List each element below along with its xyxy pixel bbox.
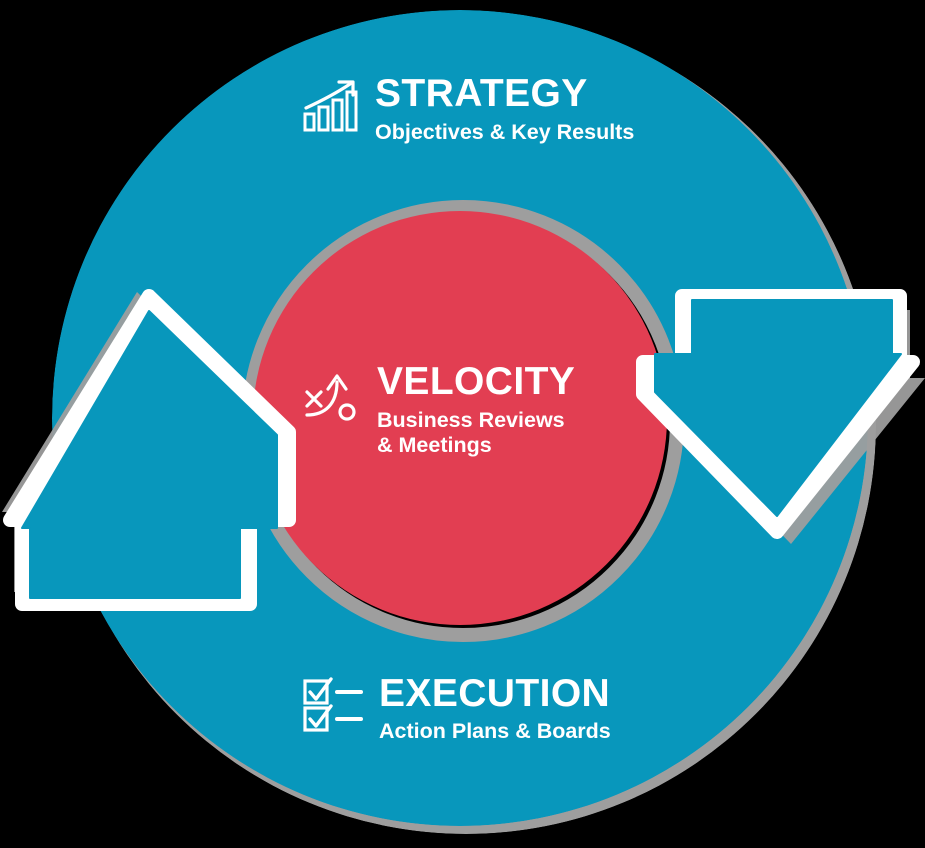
- segment-strategy-title: STRATEGY: [375, 74, 634, 113]
- segment-velocity-text: VELOCITY Business Reviews & Meetings: [377, 362, 575, 459]
- segment-strategy-subtitle: Objectives & Key Results: [375, 120, 634, 145]
- bar-chart-growth-icon: [303, 80, 359, 132]
- segment-velocity: VELOCITY Business Reviews & Meetings: [303, 362, 575, 459]
- segment-strategy: STRATEGY Objectives & Key Results: [303, 74, 634, 145]
- segment-execution-subtitle: Action Plans & Boards: [379, 719, 611, 744]
- playbook-strategy-icon: [303, 370, 361, 424]
- segment-velocity-subtitle: Business Reviews & Meetings: [377, 408, 575, 459]
- checklist-icon: [303, 677, 365, 733]
- segment-execution-title: EXECUTION: [379, 674, 611, 713]
- segment-execution: EXECUTION Action Plans & Boards: [303, 674, 611, 744]
- segment-velocity-title: VELOCITY: [377, 362, 575, 401]
- segment-strategy-text: STRATEGY Objectives & Key Results: [375, 74, 634, 145]
- cycle-diagram: STRATEGY Objectives & Key Results VELOCI…: [0, 0, 925, 848]
- segment-execution-text: EXECUTION Action Plans & Boards: [379, 674, 611, 744]
